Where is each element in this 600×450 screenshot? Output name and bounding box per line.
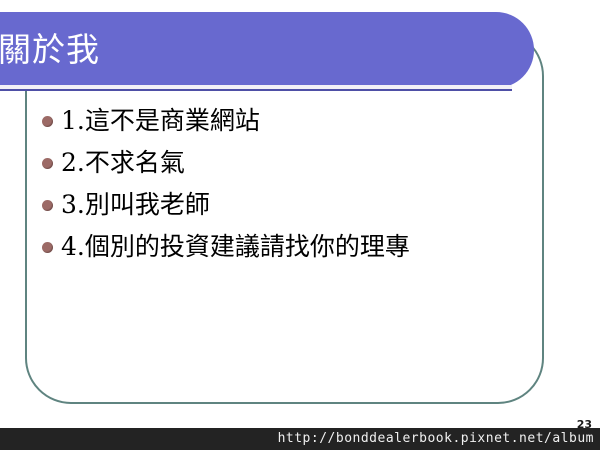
bullet-dot-icon: [42, 116, 53, 127]
page-title: 關於我: [0, 30, 100, 70]
page-number: 23: [577, 418, 592, 431]
list-item-label: 2.不求名氣: [61, 146, 185, 180]
presentation-slide: 關於我 1.這不是商業網站 2.不求名氣 3.別叫我老師 4.個別的投資建議請找…: [0, 0, 600, 450]
bullet-dot-icon: [42, 200, 53, 211]
list-item-label: 3.別叫我老師: [61, 188, 210, 222]
list-item: 2.不求名氣: [42, 146, 512, 182]
title-banner: 關於我: [0, 12, 534, 88]
watermark-url: http://bonddealerbook.pixnet.net/album: [278, 431, 594, 446]
list-item-label: 1.這不是商業網站: [61, 104, 260, 138]
banner-accent-stripe-shadow: [0, 89, 512, 91]
list-item: 4.個別的投資建議請找你的理專: [42, 230, 512, 266]
watermark-bar: http://bonddealerbook.pixnet.net/album: [0, 428, 600, 450]
bullet-dot-icon: [42, 158, 53, 169]
bullet-list: 1.這不是商業網站 2.不求名氣 3.別叫我老師 4.個別的投資建議請找你的理專: [42, 104, 512, 272]
list-item: 3.別叫我老師: [42, 188, 512, 224]
list-item-label: 4.個別的投資建議請找你的理專: [61, 230, 410, 264]
list-item: 1.這不是商業網站: [42, 104, 512, 140]
bullet-dot-icon: [42, 242, 53, 253]
